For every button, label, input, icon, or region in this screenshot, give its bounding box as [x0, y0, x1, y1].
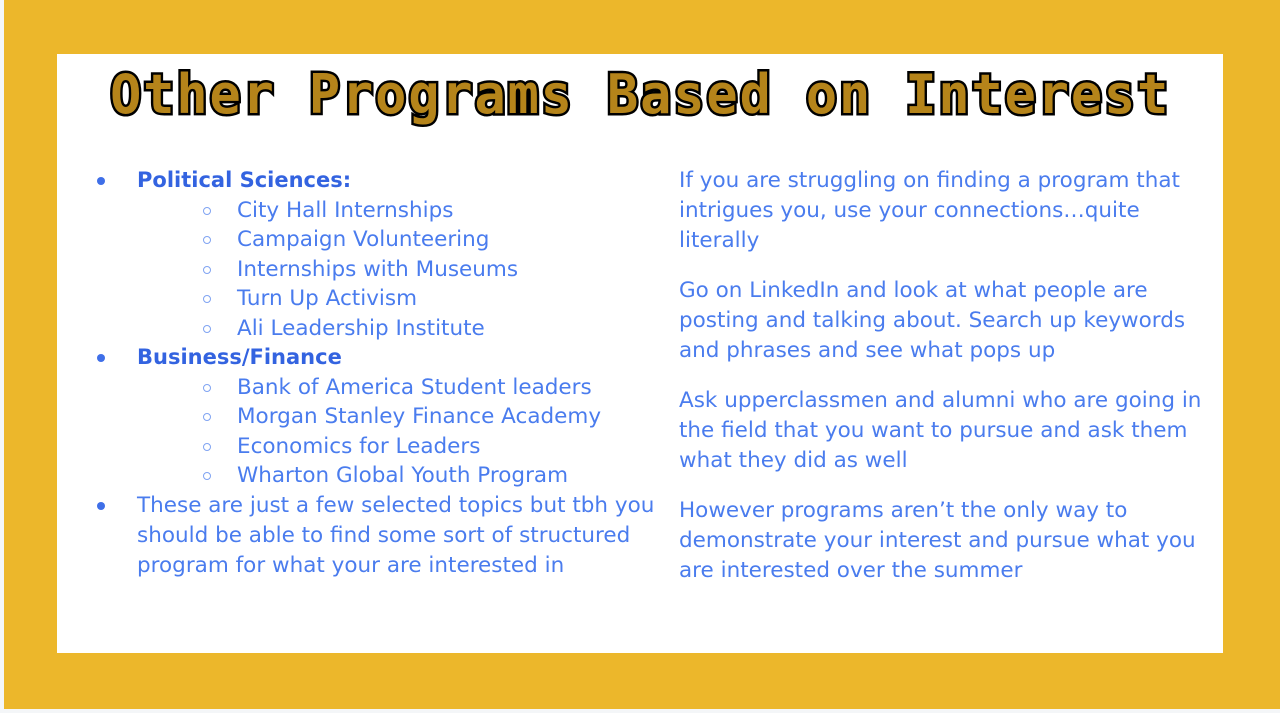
list-item-group-heading: Business/Finance Bank of America Student…	[93, 343, 663, 491]
sub-list: Bank of America Student leaders Morgan S…	[199, 373, 663, 491]
list-item: Ali Leadership Institute	[199, 314, 663, 344]
advice-paragraph: However programs aren’t the only way to …	[679, 496, 1209, 586]
group-heading-label: Political Sciences:	[137, 168, 351, 192]
list-item-label: Turn Up Activism	[237, 286, 417, 311]
slide-frame: Other Programs Based on Interest Politic…	[4, 0, 1280, 709]
closing-bullet: These are just a few selected topics but…	[93, 491, 663, 581]
list-item: Bank of America Student leaders	[199, 373, 663, 403]
list-item-group-heading: Political Sciences: City Hall Internship…	[93, 166, 663, 343]
bullet-disc-icon	[97, 177, 105, 185]
page-title: Other Programs Based on Interest	[110, 68, 1170, 122]
list-item-label: Economics for Leaders	[237, 434, 480, 459]
left-column: Political Sciences: City Hall Internship…	[93, 166, 663, 581]
advice-paragraph: Go on LinkedIn and look at what people a…	[679, 276, 1209, 366]
closing-bullet-label: These are just a few selected topics but…	[137, 491, 663, 581]
bullet-circle-icon	[203, 266, 211, 274]
bullet-circle-icon	[203, 384, 211, 392]
bullet-circle-icon	[203, 207, 211, 215]
list-item-label: Internships with Museums	[237, 257, 518, 282]
title-container: Other Programs Based on Interest	[57, 68, 1223, 122]
bullet-circle-icon	[203, 443, 211, 451]
bullet-disc-icon	[97, 502, 105, 510]
program-list: Political Sciences: City Hall Internship…	[93, 166, 663, 581]
advice-paragraph: Ask upperclassmen and alumni who are goi…	[679, 386, 1209, 476]
list-item: Morgan Stanley Finance Academy	[199, 402, 663, 432]
bullet-disc-icon	[97, 354, 105, 362]
list-item-label: Ali Leadership Institute	[237, 316, 485, 341]
bullet-circle-icon	[203, 472, 211, 480]
list-item: Internships with Museums	[199, 255, 663, 285]
list-item-label: Bank of America Student leaders	[237, 375, 592, 400]
list-item: Economics for Leaders	[199, 432, 663, 462]
list-item: City Hall Internships	[199, 196, 663, 226]
list-item-label: Campaign Volunteering	[237, 227, 489, 252]
bullet-circle-icon	[203, 295, 211, 303]
slide-card: Other Programs Based on Interest Politic…	[57, 54, 1223, 653]
bullet-circle-icon	[203, 236, 211, 244]
group-heading-label: Business/Finance	[137, 345, 342, 369]
list-item: Wharton Global Youth Program	[199, 461, 663, 491]
list-item-label: City Hall Internships	[237, 198, 453, 223]
list-item: Turn Up Activism	[199, 284, 663, 314]
advice-paragraph: If you are struggling on finding a progr…	[679, 166, 1209, 256]
bullet-circle-icon	[203, 413, 211, 421]
body-columns: Political Sciences: City Hall Internship…	[57, 166, 1223, 636]
list-item: Campaign Volunteering	[199, 225, 663, 255]
right-column: If you are struggling on finding a progr…	[679, 166, 1209, 586]
list-item-label: Wharton Global Youth Program	[237, 463, 568, 488]
sub-list: City Hall Internships Campaign Volunteer…	[199, 196, 663, 344]
bullet-circle-icon	[203, 325, 211, 333]
list-item-label: Morgan Stanley Finance Academy	[237, 404, 601, 429]
